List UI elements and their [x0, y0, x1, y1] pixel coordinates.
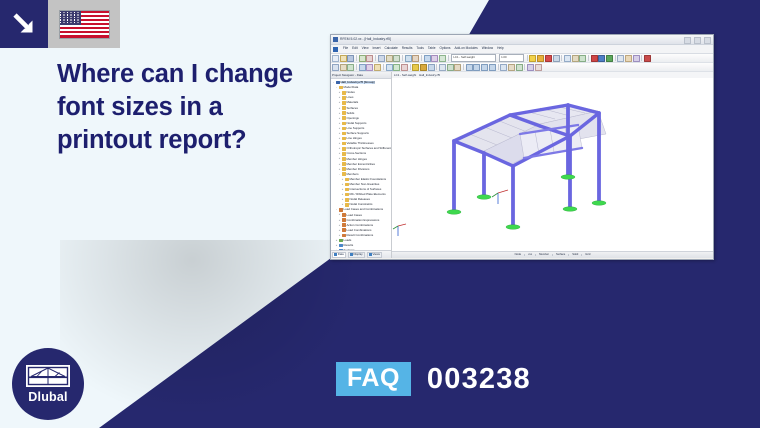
opening-tool-icon[interactable]: [374, 64, 381, 71]
navigator-tree-item-label: Load Combinations: [347, 229, 372, 232]
navigator-tab-display-label: Display: [354, 253, 363, 256]
headline-line-2: font sizes in a: [57, 91, 337, 124]
menu-item-edit[interactable]: Edit: [352, 47, 358, 50]
navigator-tree-item-label: Line Hinges: [347, 137, 362, 140]
navigator-tree[interactable]: -Hall_Industry.rf5 [Group]-Model Data+No…: [331, 79, 391, 250]
tree-folder-icon: [345, 203, 349, 207]
collapse-icon[interactable]: -: [332, 81, 335, 84]
expand-icon[interactable]: +: [338, 132, 341, 135]
expand-icon[interactable]: +: [338, 152, 341, 155]
layer-icon[interactable]: [508, 64, 515, 71]
navigator-tree-item-label: Loads: [344, 239, 352, 242]
navigator-tree-item-label: Model Data: [344, 86, 359, 89]
tree-folder-icon: [345, 193, 349, 197]
tree-folder-icon: [342, 91, 346, 95]
tree-folder-icon: [342, 172, 346, 176]
navigator-tree-item-label: Members: [347, 173, 359, 176]
navigator-tree-item-label: Nodal Releases: [350, 198, 370, 201]
object-snap-icon[interactable]: [579, 55, 586, 62]
expand-icon[interactable]: +: [338, 127, 341, 130]
tree-folder-icon: [342, 116, 346, 120]
line-support-icon[interactable]: [393, 64, 400, 71]
navigator-tree-item-label: Rib / Ribbed Plate Elements: [350, 193, 386, 196]
menu-item-table[interactable]: Table: [428, 47, 436, 50]
help-icon[interactable]: [644, 55, 651, 62]
corner-arrow-badge: [0, 0, 48, 48]
data-tab-icon: [334, 253, 337, 256]
tree-folder-icon: [342, 162, 346, 166]
group-icon[interactable]: [516, 64, 523, 71]
expand-icon[interactable]: +: [338, 163, 341, 166]
tree-folder-icon: [342, 223, 346, 227]
tree-folder-icon: [342, 228, 346, 232]
tree-folder-icon: [339, 208, 343, 212]
navigator-tree-item-label: Lines: [347, 96, 354, 99]
faq-chip-label: FAQ: [336, 362, 411, 396]
tree-folder-icon: [342, 127, 346, 131]
tree-folder-icon: [339, 86, 343, 90]
render-icon[interactable]: [529, 55, 536, 62]
navigator-tree-item-label: Orthotropic Surfaces and Stiffeners: [347, 147, 392, 150]
menu-item-tools[interactable]: Tools: [416, 47, 423, 50]
expand-icon[interactable]: +: [338, 147, 341, 150]
tree-folder-icon: [342, 111, 346, 115]
view-top-icon[interactable]: [473, 64, 480, 71]
views-tab-icon: [369, 253, 372, 256]
model-viewport[interactable]: LC1 - Self-weight Hall_Industry.rf5: [392, 72, 713, 258]
tree-folder-icon: [345, 178, 349, 182]
menu-item-help[interactable]: Help: [497, 47, 504, 50]
menu-item-window[interactable]: Window: [482, 47, 493, 50]
window-titlebar: RFEM 5.02.xx - [Hall_Industry.rf5]: [331, 35, 713, 45]
navigator-tree-item-label: Openings: [347, 117, 359, 120]
display-tab-icon: [350, 253, 353, 256]
navigator-tree-item-label: Member Non-linearities: [350, 183, 380, 186]
expand-icon[interactable]: +: [338, 122, 341, 125]
load-case-combo[interactable]: LC1 - Self-weight: [451, 54, 496, 62]
menu-item-view[interactable]: View: [362, 47, 369, 50]
calculate-icon[interactable]: [591, 55, 598, 62]
expand-icon[interactable]: +: [338, 96, 341, 99]
menu-item-insert[interactable]: Insert: [373, 47, 381, 50]
structural-model-graphic: [392, 78, 713, 252]
tree-folder-icon: [342, 96, 346, 100]
collapse-icon[interactable]: -: [335, 86, 338, 89]
navigator-tab-data[interactable]: Data: [332, 252, 346, 258]
settings-icon[interactable]: [633, 55, 640, 62]
navigator-tree-item-label: Member Eccentricities: [347, 163, 375, 166]
tree-folder-icon: [342, 106, 346, 110]
line-load-icon[interactable]: [420, 64, 427, 71]
navigator-title: Project Navigator - Data: [332, 74, 363, 77]
nodal-support-icon[interactable]: [386, 64, 393, 71]
expand-icon[interactable]: +: [338, 142, 341, 145]
surface-tool-icon[interactable]: [359, 64, 366, 71]
tree-folder-icon: [342, 147, 346, 151]
collapse-icon[interactable]: -: [338, 173, 341, 176]
tree-folder-icon: [342, 137, 346, 141]
zoom-out-icon[interactable]: [431, 55, 438, 62]
printout-report-icon[interactable]: [617, 55, 624, 62]
expand-icon[interactable]: +: [338, 224, 341, 227]
us-flag-icon: [60, 11, 109, 38]
navigator-tree-item-label: Surfaces: [347, 107, 358, 110]
tree-folder-icon: [339, 244, 343, 248]
navigator-tab-data-label: Data: [338, 253, 344, 256]
status-grid: Grid: [581, 254, 590, 257]
wireframe-icon[interactable]: [537, 55, 544, 62]
navigator-tree-item-label: Nodal Supports: [347, 122, 367, 125]
nodal-load-icon[interactable]: [412, 64, 419, 71]
expand-icon[interactable]: +: [338, 101, 341, 104]
expand-icon[interactable]: +: [341, 188, 344, 191]
faq-badge: FAQ 003238: [336, 362, 531, 396]
navigator-tree-item-label: Solids: [347, 112, 355, 115]
expand-icon[interactable]: +: [341, 198, 344, 201]
navigator-tabs[interactable]: Data Display Views: [331, 250, 391, 258]
mesh-icon[interactable]: [527, 64, 534, 71]
expand-icon[interactable]: +: [335, 239, 338, 242]
tree-folder-icon: [342, 132, 346, 136]
view-front-icon[interactable]: [466, 64, 473, 71]
navigator-tree-item-label: Materials: [347, 101, 359, 104]
print-icon[interactable]: [359, 55, 366, 62]
headline-line-1: Where can I change: [57, 58, 337, 91]
factor-combo[interactable]: 1.00: [499, 54, 524, 62]
save-icon[interactable]: [347, 55, 354, 62]
dlubal-logo-text: Dlubal: [28, 390, 67, 404]
copy-icon[interactable]: [386, 55, 393, 62]
navigator-tree-item-label: Hall_Industry.rf5 [Group]: [341, 81, 375, 84]
menu-app-icon: [333, 47, 338, 52]
deformation-icon[interactable]: [606, 55, 613, 62]
status-solid: Solid: [568, 254, 578, 257]
model-3d-canvas[interactable]: [392, 78, 713, 252]
menu-item-options[interactable]: Options: [440, 47, 451, 50]
cut-icon[interactable]: [378, 55, 385, 62]
arrow-down-right-icon: [11, 11, 37, 37]
expand-icon[interactable]: +: [341, 178, 344, 181]
maximize-button[interactable]: [694, 37, 701, 44]
tree-folder-icon: [345, 183, 349, 187]
navigator-tab-display[interactable]: Display: [348, 252, 365, 258]
expand-icon[interactable]: +: [338, 234, 341, 237]
expand-icon[interactable]: +: [338, 168, 341, 171]
view-side-icon[interactable]: [481, 64, 488, 71]
tree-folder-icon: [342, 101, 346, 105]
menu-item-calculate[interactable]: Calculate: [384, 47, 397, 50]
expand-icon[interactable]: +: [341, 183, 344, 186]
navigator-tree-item-label: Intersections of Surfaces: [350, 188, 382, 191]
minimize-button[interactable]: [684, 37, 691, 44]
tree-folder-icon: [339, 239, 343, 243]
text-icon[interactable]: [454, 64, 461, 71]
member-tool-icon[interactable]: [347, 64, 354, 71]
print-preview-icon[interactable]: [366, 55, 373, 62]
dlubal-logo: Dlubal: [12, 348, 84, 420]
toolbar-row-1[interactable]: LC1 - Self-weight 1.00: [331, 54, 713, 63]
stop-icon[interactable]: [545, 55, 552, 62]
fit-view-icon[interactable]: [439, 55, 446, 62]
status-bar: Node xxx Member Surface Solid Grid: [392, 251, 713, 258]
paste-icon[interactable]: [393, 55, 400, 62]
tree-folder-icon: [342, 218, 346, 222]
navigator-tree-item-label: Result Combinations: [347, 234, 374, 237]
dimension-icon[interactable]: [447, 64, 454, 71]
navigator-tree-item-label: Combination Expressions: [347, 219, 380, 222]
menu-item-addon-modules[interactable]: Add-on Modules: [455, 47, 478, 50]
menu-bar[interactable]: File Edit View Insert Calculate Results …: [331, 45, 713, 54]
navigator-tree-item-label: Member Divisions: [347, 168, 370, 171]
navigator-tree-item-label: Load Cases and Combinations: [344, 208, 384, 211]
tree-folder-icon: [342, 152, 346, 156]
tree-folder-icon: [342, 213, 346, 217]
navigator-tree-item-label: Cross-Sections: [347, 152, 367, 155]
tree-folder-icon: [345, 198, 349, 202]
tree-folder-icon: [342, 157, 346, 161]
surface-load-icon[interactable]: [428, 64, 435, 71]
navigator-tree-item-label: Results: [344, 244, 354, 247]
expand-icon[interactable]: +: [335, 244, 338, 247]
export-icon[interactable]: [625, 55, 632, 62]
navigator-tree-item-label: Member Elastic Foundations: [350, 178, 387, 181]
navigator-tree-item-label: Nodes: [347, 91, 355, 94]
headline-line-3: printout report?: [57, 124, 337, 157]
collapse-icon[interactable]: -: [335, 208, 338, 211]
tree-folder-icon: [342, 167, 346, 171]
navigator-tab-views-label: Views: [372, 253, 379, 256]
project-navigator: Project Navigator - Data -Hall_Industry.…: [331, 72, 392, 258]
surface-support-icon[interactable]: [401, 64, 408, 71]
page-title: Where can I change font sizes in a print…: [57, 58, 337, 157]
solid-tool-icon[interactable]: [366, 64, 373, 71]
navigator-tree-item-label: Variable Thicknesses: [347, 142, 374, 145]
expand-icon[interactable]: +: [338, 112, 341, 115]
navigator-tree-item-label: Action Combinations: [347, 224, 374, 227]
navigator-tab-views[interactable]: Views: [367, 252, 382, 258]
menu-item-results[interactable]: Results: [402, 47, 413, 50]
tree-folder-icon: [345, 188, 349, 192]
line-tool-icon[interactable]: [340, 64, 347, 71]
grid-icon[interactable]: [553, 55, 560, 62]
navigator-header: Project Navigator - Data: [331, 72, 391, 79]
node-tool-icon[interactable]: [332, 64, 339, 71]
zoom-in-icon[interactable]: [424, 55, 431, 62]
app-icon: [333, 37, 338, 42]
expand-icon[interactable]: +: [338, 91, 341, 94]
viewport-tab-model[interactable]: Hall_Industry.rf5: [419, 74, 440, 77]
viewport-tab-loadcase[interactable]: LC1 - Self-weight: [394, 74, 416, 77]
redo-icon[interactable]: [412, 55, 419, 62]
status-surface: Surface: [552, 254, 565, 257]
rfem-application-window: RFEM 5.02.xx - [Hall_Industry.rf5] File …: [330, 34, 714, 260]
work-area: Project Navigator - Data -Hall_Industry.…: [331, 72, 713, 258]
visibility-icon[interactable]: [500, 64, 507, 71]
expand-icon[interactable]: +: [338, 219, 341, 222]
expand-icon[interactable]: +: [341, 203, 344, 206]
truss-frame-icon: [26, 365, 70, 387]
check-model-icon[interactable]: [535, 64, 542, 71]
navigator-tree-item-label: Surface Supports: [347, 132, 369, 135]
navigator-tree-item-label: Line Supports: [347, 127, 365, 130]
window-title: RFEM 5.02.xx - [Hall_Industry.rf5]: [340, 38, 391, 41]
navigator-tree-item-label: Load Cases: [347, 214, 362, 217]
menu-item-file[interactable]: File: [343, 47, 348, 50]
new-icon[interactable]: [332, 55, 339, 62]
expand-icon[interactable]: +: [338, 107, 341, 110]
window-controls[interactable]: [684, 37, 711, 44]
tree-folder-icon: [342, 122, 346, 126]
open-icon[interactable]: [340, 55, 347, 62]
status-node: Node: [515, 254, 521, 257]
toolbar-row-2[interactable]: [331, 63, 713, 72]
expand-icon[interactable]: +: [338, 117, 341, 120]
tree-folder-icon: [342, 142, 346, 146]
expand-icon[interactable]: +: [341, 193, 344, 196]
expand-icon[interactable]: +: [338, 157, 341, 160]
status-value: xxx: [524, 254, 532, 257]
snap-icon[interactable]: [564, 55, 571, 62]
faq-number: 003238: [427, 365, 531, 394]
language-flag-button[interactable]: [48, 0, 120, 48]
tree-folder-icon: [342, 234, 346, 238]
expand-icon[interactable]: +: [338, 229, 341, 232]
navigator-tree-item-label: Nodal Constraints: [350, 203, 373, 206]
undo-icon[interactable]: [405, 55, 412, 62]
status-member: Member: [535, 254, 549, 257]
close-button[interactable]: [704, 37, 711, 44]
view-iso-icon[interactable]: [489, 64, 496, 71]
results-icon[interactable]: [598, 55, 605, 62]
expand-icon[interactable]: +: [338, 213, 341, 216]
tree-folder-icon: [336, 81, 340, 85]
section-icon[interactable]: [439, 64, 446, 71]
navigator-tree-item-label: Member Hinges: [347, 158, 367, 161]
slide-root: Where can I change font sizes in a print…: [0, 0, 760, 428]
expand-icon[interactable]: +: [338, 137, 341, 140]
ortho-icon[interactable]: [572, 55, 579, 62]
